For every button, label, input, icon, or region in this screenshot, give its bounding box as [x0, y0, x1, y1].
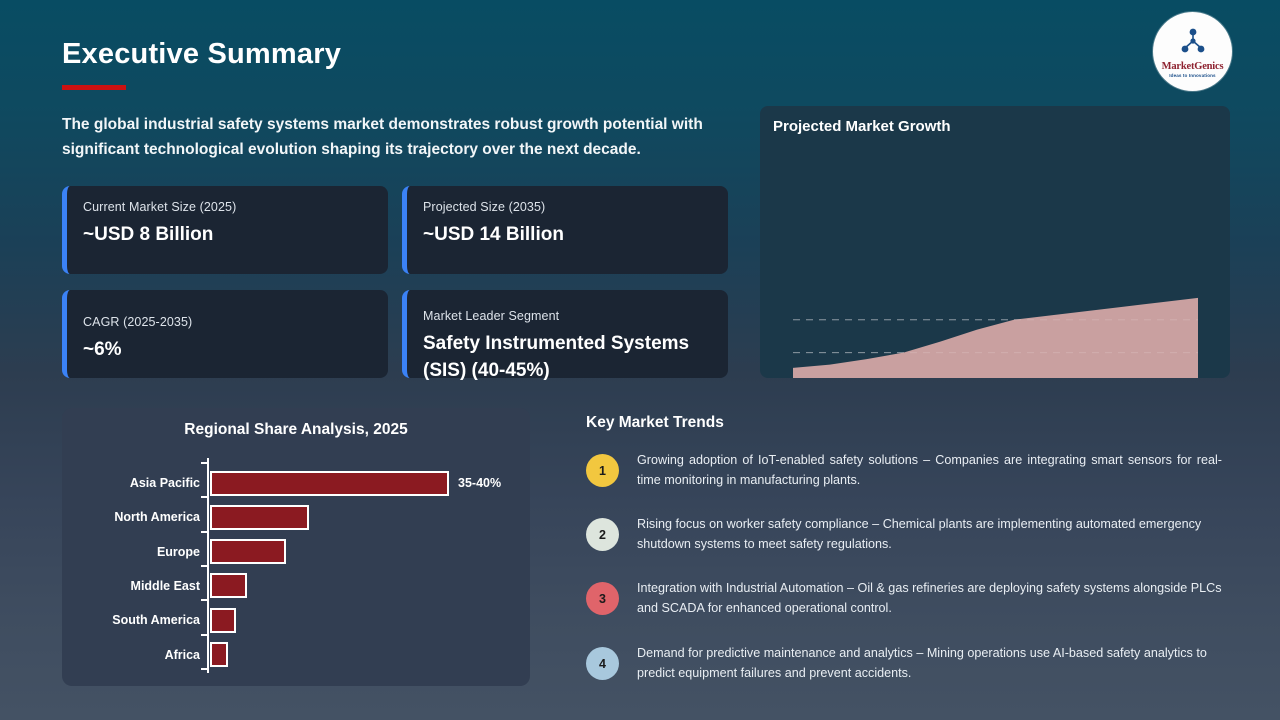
trend-number-badge: 4 [586, 647, 619, 680]
bar-fill [210, 505, 309, 530]
bar-track: 35-40% [210, 468, 530, 498]
bar-category-label: South America [62, 613, 210, 627]
trend-item: 2 Rising focus on worker safety complian… [586, 515, 1222, 554]
intro-paragraph: The global industrial safety systems mar… [62, 112, 730, 162]
bar-axis-tick [201, 496, 208, 498]
bar-axis-tick [201, 599, 208, 601]
bar-axis-tick [201, 634, 208, 636]
bar-chart-row: Africa [62, 640, 530, 670]
network-nodes-icon [1178, 28, 1208, 59]
bar-value-label: 35-40% [458, 476, 501, 490]
title-underline-rule [62, 85, 126, 90]
stat-card-label: Current Market Size (2025) [83, 200, 370, 214]
trends-section-title: Key Market Trends [586, 414, 724, 432]
stat-card-label: Market Leader Segment [423, 309, 710, 323]
bar-chart-row: Europe [62, 537, 530, 567]
bar-category-label: North America [62, 510, 210, 524]
bar-track [210, 571, 530, 601]
stat-card-market-leader-segment: Market Leader Segment Safety Instrumente… [402, 290, 728, 378]
bar-chart-row: Asia Pacific35-40% [62, 468, 530, 498]
bar-axis-tick [201, 565, 208, 567]
trend-number-badge: 2 [586, 518, 619, 551]
bar-fill [210, 539, 286, 564]
stat-card-value: ~USD 14 Billion [423, 221, 710, 248]
bar-track [210, 502, 530, 532]
stat-card-label: Projected Size (2035) [423, 200, 710, 214]
bar-category-label: Europe [62, 545, 210, 559]
bar-track [210, 537, 530, 567]
trend-item: 3 Integration with Industrial Automation… [586, 579, 1222, 618]
page-title: Executive Summary [62, 38, 341, 71]
bar-axis-tick [201, 462, 208, 464]
trend-item: 1 Growing adoption of IoT-enabled safety… [586, 451, 1222, 490]
bar-category-label: Africa [62, 648, 210, 662]
stat-card-value: ~USD 8 Billion [83, 221, 370, 248]
trend-text: Rising focus on worker safety compliance… [637, 515, 1222, 554]
logo-tagline-text: Ideas to Innovations [1169, 73, 1215, 78]
trend-text: Demand for predictive maintenance and an… [637, 644, 1222, 683]
trend-item: 4 Demand for predictive maintenance and … [586, 644, 1222, 683]
regional-chart-title: Regional Share Analysis, 2025 [62, 421, 530, 439]
area-series [793, 298, 1198, 378]
stat-card-projected-size: Projected Size (2035) ~USD 14 Billion [402, 186, 728, 274]
trend-number-badge: 3 [586, 582, 619, 615]
stat-card-current-market-size: Current Market Size (2025) ~USD 8 Billio… [62, 186, 388, 274]
regional-share-panel: Regional Share Analysis, 2025 Asia Pacif… [62, 408, 530, 686]
logo-brand-text: MarketGenics [1162, 61, 1224, 72]
bar-chart-row: North America [62, 502, 530, 532]
bar-axis-tick [201, 668, 208, 670]
bar-track [210, 640, 530, 670]
bar-axis-tick [201, 531, 208, 533]
trend-text: Growing adoption of IoT-enabled safety s… [637, 451, 1222, 490]
stat-card-value: Safety Instrumented Systems (SIS) (40-45… [423, 330, 710, 384]
bar-chart-row: Middle East [62, 571, 530, 601]
growth-area-chart: 20242025202720302035 [760, 106, 1230, 378]
bar-fill [210, 573, 247, 598]
trend-number-badge: 1 [586, 454, 619, 487]
bar-category-label: Middle East [62, 579, 210, 593]
bar-fill [210, 608, 236, 633]
bar-track [210, 605, 530, 635]
stat-card-cagr: CAGR (2025-2035) ~6% [62, 290, 388, 378]
stat-card-label: CAGR (2025-2035) [83, 315, 370, 329]
bar-fill [210, 471, 449, 496]
bar-chart-row: South America [62, 605, 530, 635]
company-logo: MarketGenics Ideas to Innovations [1153, 12, 1232, 91]
stat-card-value: ~6% [83, 336, 370, 363]
bar-category-label: Asia Pacific [62, 476, 210, 490]
projected-market-growth-panel: Projected Market Growth 2024202520272030… [760, 106, 1230, 378]
bar-fill [210, 642, 228, 667]
trend-text: Integration with Industrial Automation –… [637, 579, 1222, 618]
